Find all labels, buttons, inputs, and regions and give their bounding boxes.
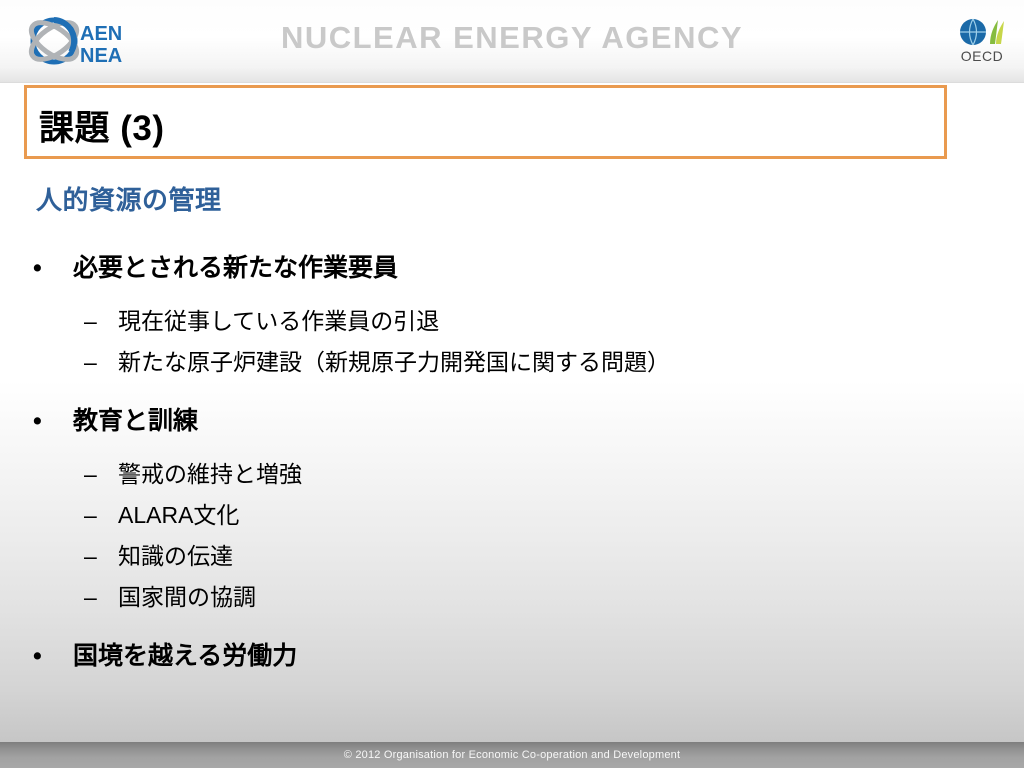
- oecd-logo-graphic: OECD: [954, 12, 1010, 68]
- bullet-heading: • 教育と訓練: [0, 401, 1024, 442]
- sub-bullet-label: 警戒の維持と増強: [118, 461, 302, 487]
- slide-canvas: AEN NEA NUCLEAR ENERGY AGENCY OECD 課題 (3…: [0, 0, 1024, 768]
- dash-icon: –: [84, 536, 97, 577]
- sub-bullet-item: – 警戒の維持と増強: [0, 454, 1024, 495]
- sub-bullet-label: 国家間の協調: [118, 584, 256, 610]
- dash-icon: –: [84, 495, 97, 536]
- bullet-heading-label: 教育と訓練: [73, 407, 198, 435]
- dash-icon: –: [84, 577, 97, 618]
- sub-bullet-label: 知識の伝達: [118, 543, 233, 569]
- spacer: [0, 289, 1024, 301]
- spacer: [0, 442, 1024, 454]
- bullet-dot-icon: •: [33, 401, 42, 442]
- bullet-group-3: • 国境を越える労働力: [0, 636, 1024, 677]
- copyright-text: © 2012 Organisation for Economic Co-oper…: [0, 742, 1024, 768]
- spacer: [0, 383, 1024, 401]
- page-title: 課題 (3): [39, 100, 165, 151]
- bullet-heading-label: 必要とされる新たな作業要員: [73, 254, 398, 282]
- slide-header: AEN NEA NUCLEAR ENERGY AGENCY OECD: [0, 0, 1024, 83]
- header-banner-title: NUCLEAR ENERGY AGENCY: [0, 20, 1024, 56]
- dash-icon: –: [84, 301, 97, 342]
- slide-footer: © 2012 Organisation for Economic Co-oper…: [0, 742, 1024, 768]
- bullet-dot-icon: •: [33, 636, 42, 677]
- oecd-logo: OECD: [954, 12, 1010, 68]
- bullet-group-1: • 必要とされる新たな作業要員 – 現在従事している作業員の引退 – 新たな原子…: [0, 248, 1024, 383]
- bullet-heading: • 国境を越える労働力: [0, 636, 1024, 677]
- sub-bullet-item: – 知識の伝達: [0, 536, 1024, 577]
- bullet-heading-label: 国境を越える労働力: [73, 642, 297, 670]
- slide-content: • 必要とされる新たな作業要員 – 現在従事している作業員の引退 – 新たな原子…: [0, 248, 1024, 677]
- dash-icon: –: [84, 342, 97, 383]
- bullet-group-2: • 教育と訓練 – 警戒の維持と増強 – ALARA文化 – 知識の伝達 – 国…: [0, 401, 1024, 618]
- sub-bullet-item: – 現在従事している作業員の引退: [0, 301, 1024, 342]
- sub-bullet-label: ALARA文化: [118, 502, 239, 528]
- title-box: 課題 (3): [24, 85, 947, 159]
- sub-bullet-label: 新たな原子炉建設（新規原子力開発国に関する問題）: [118, 349, 670, 375]
- slide-subtitle: 人的資源の管理: [36, 180, 222, 217]
- sub-bullet-label: 現在従事している作業員の引退: [118, 308, 439, 334]
- dash-icon: –: [84, 454, 97, 495]
- bullet-dot-icon: •: [33, 248, 42, 289]
- spacer: [0, 618, 1024, 636]
- sub-bullet-item: – ALARA文化: [0, 495, 1024, 536]
- svg-text:OECD: OECD: [961, 48, 1003, 64]
- bullet-heading: • 必要とされる新たな作業要員: [0, 248, 1024, 289]
- sub-bullet-item: – 国家間の協調: [0, 577, 1024, 618]
- sub-bullet-item: – 新たな原子炉建設（新規原子力開発国に関する問題）: [0, 342, 1024, 383]
